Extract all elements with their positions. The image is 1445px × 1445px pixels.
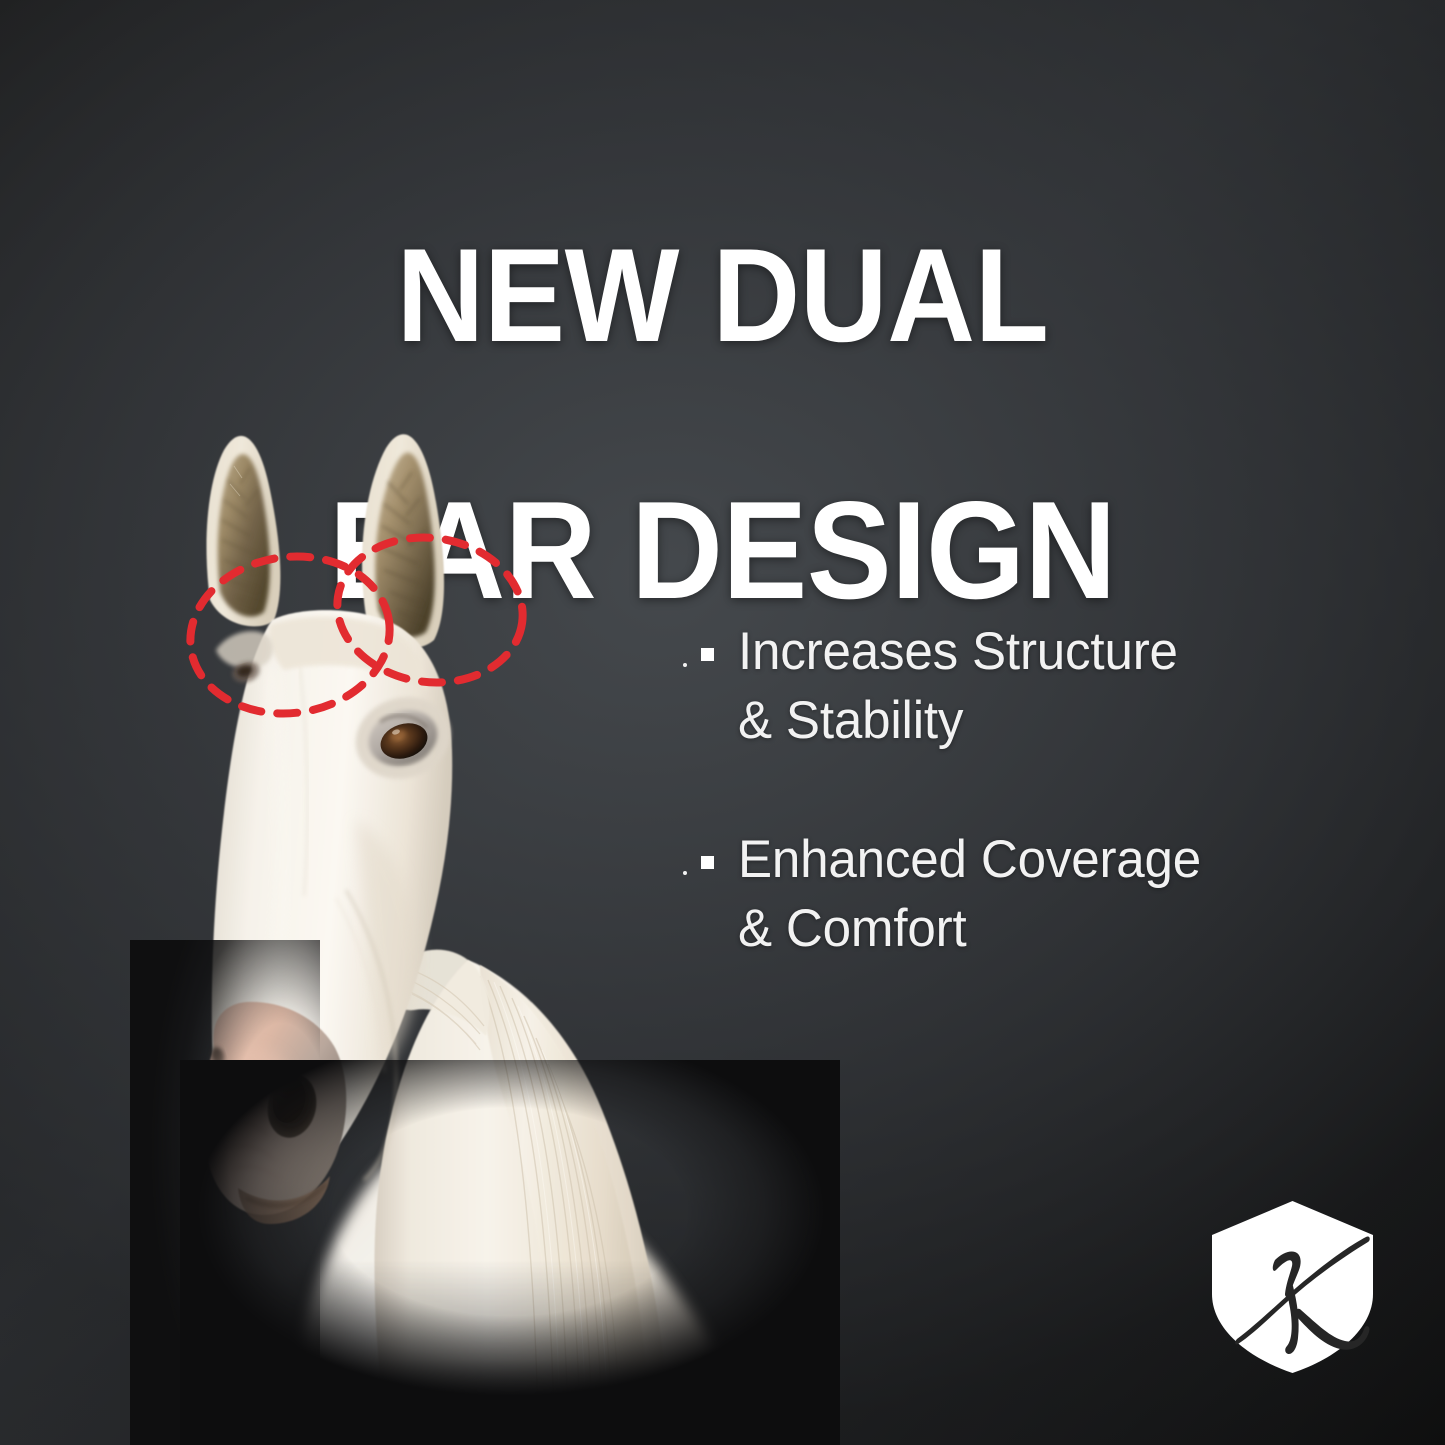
shield-icon — [1205, 1198, 1380, 1376]
headline-line-1: NEW DUAL — [61, 234, 1383, 360]
horse-illustration — [150, 420, 850, 1420]
ad-creative: NEW DUAL EAR DESIGN — [0, 0, 1445, 1445]
product-image — [150, 420, 850, 1420]
brand-shield-logo — [1205, 1198, 1380, 1376]
